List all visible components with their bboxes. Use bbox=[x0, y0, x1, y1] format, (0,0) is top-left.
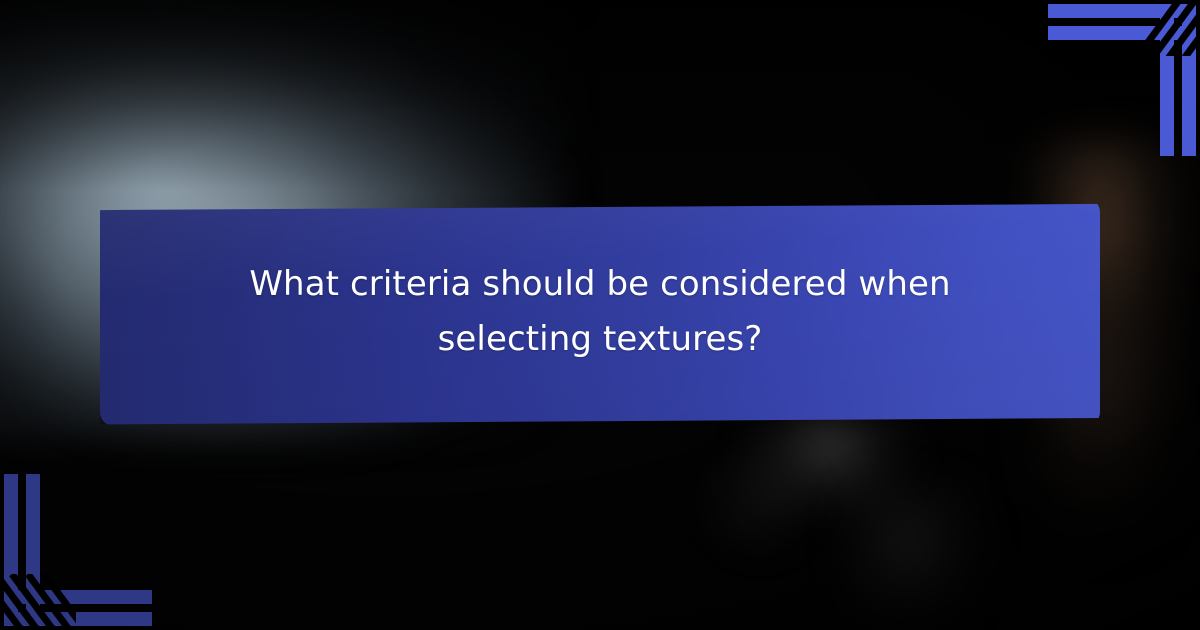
promo-card-image: What criteria should be considered when … bbox=[0, 0, 1200, 630]
question-banner: What criteria should be considered when … bbox=[100, 198, 1100, 426]
question-text: What criteria should be considered when … bbox=[100, 198, 1100, 426]
